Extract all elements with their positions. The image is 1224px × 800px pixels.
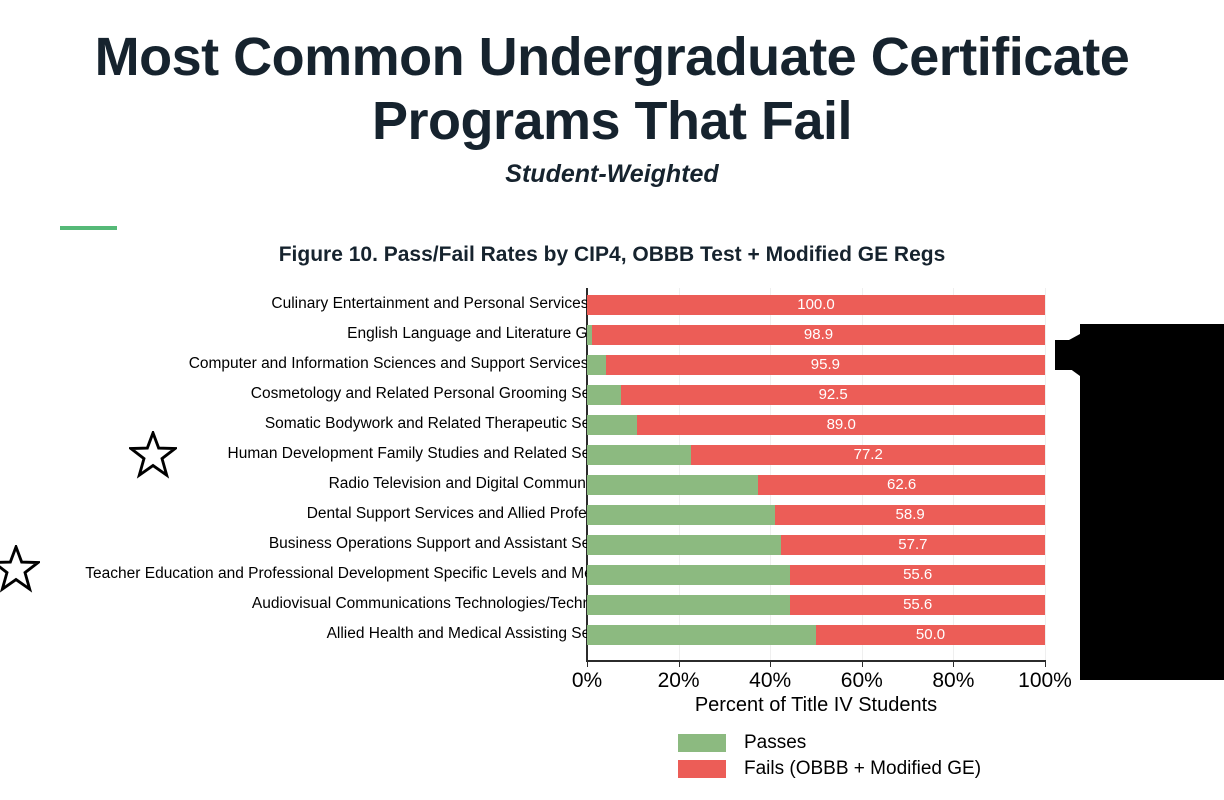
stacked-bar: 58.9 bbox=[587, 505, 1045, 525]
slide-subtitle: Student-Weighted bbox=[0, 160, 1224, 189]
category-label: Culinary Entertainment and Personal Serv… bbox=[0, 295, 635, 313]
bar-row: Teacher Education and Professional Devel… bbox=[0, 560, 1224, 590]
stacked-bar: 100.0 bbox=[587, 295, 1045, 315]
bar-value-label: 58.9 bbox=[896, 506, 925, 523]
bar-segment-passes bbox=[587, 535, 781, 555]
bar-row: Culinary Entertainment and Personal Serv… bbox=[0, 290, 1224, 320]
figure-title: Figure 10. Pass/Fail Rates by CIP4, OBBB… bbox=[0, 243, 1224, 267]
x-tick-label: 20% bbox=[658, 669, 700, 693]
legend-label: Fails (OBBB + Modified GE) bbox=[744, 758, 981, 780]
black-callout-shape bbox=[1055, 292, 1224, 680]
bar-value-label: 55.6 bbox=[903, 596, 932, 613]
bar-row: Allied Health and Medical Assisting Serv… bbox=[0, 620, 1224, 650]
legend-item[interactable]: Fails (OBBB + Modified GE) bbox=[678, 756, 981, 782]
bar-row: Cosmetology and Related Personal Groomin… bbox=[0, 380, 1224, 410]
bar-segment-passes bbox=[587, 625, 816, 645]
bar-value-label: 89.0 bbox=[827, 416, 856, 433]
stacked-bar: 55.6 bbox=[587, 565, 1045, 585]
bar-value-label: 62.6 bbox=[887, 476, 916, 493]
x-tick-label: 0% bbox=[572, 669, 602, 693]
bar-segment-passes bbox=[587, 445, 691, 465]
x-axis-title: Percent of Title IV Students bbox=[587, 694, 1045, 717]
legend-label: Passes bbox=[744, 732, 806, 754]
bar-row: Somatic Bodywork and Related Therapeutic… bbox=[0, 410, 1224, 440]
bar-value-label: 92.5 bbox=[819, 386, 848, 403]
stacked-bar: 77.2 bbox=[587, 445, 1045, 465]
bar-row: Business Operations Support and Assistan… bbox=[0, 530, 1224, 560]
stacked-bar: 98.9 bbox=[587, 325, 1045, 345]
category-label: Human Development Family Studies and Rel… bbox=[0, 445, 635, 463]
category-label: Dental Support Services and Allied Profe… bbox=[0, 505, 635, 523]
slide-title: Most Common Undergraduate Certificate Pr… bbox=[0, 26, 1224, 153]
bar-value-label: 77.2 bbox=[854, 446, 883, 463]
bar-segment-passes bbox=[587, 355, 606, 375]
bar-row: English Language and Literature General.… bbox=[0, 320, 1224, 350]
bar-value-label: 100.0 bbox=[797, 296, 835, 313]
x-tick bbox=[679, 660, 680, 667]
x-tick bbox=[953, 660, 954, 667]
bar-row: Human Development Family Studies and Rel… bbox=[0, 440, 1224, 470]
bar-value-label: 50.0 bbox=[916, 626, 945, 643]
bar-segment-passes bbox=[587, 565, 790, 585]
category-label: Audiovisual Communications Technologies/… bbox=[0, 595, 635, 613]
legend-swatch bbox=[678, 734, 726, 752]
category-label: Teacher Education and Professional Devel… bbox=[0, 565, 635, 583]
stacked-bar: 95.9 bbox=[587, 355, 1045, 375]
bar-row: Radio Television and Digital Communicati… bbox=[0, 470, 1224, 500]
stacked-bar: 92.5 bbox=[587, 385, 1045, 405]
bar-value-label: 95.9 bbox=[811, 356, 840, 373]
legend-item[interactable]: Passes bbox=[678, 730, 981, 756]
category-label: Allied Health and Medical Assisting Serv… bbox=[0, 625, 635, 643]
bar-segment-passes bbox=[587, 505, 775, 525]
x-tick bbox=[587, 660, 588, 667]
bar-row: Computer and Information Sciences and Su… bbox=[0, 350, 1224, 380]
bar-segment-passes bbox=[587, 595, 790, 615]
x-tick bbox=[862, 660, 863, 667]
stacked-bar: 57.7 bbox=[587, 535, 1045, 555]
category-label: Business Operations Support and Assistan… bbox=[0, 535, 635, 553]
bar-row: Audiovisual Communications Technologies/… bbox=[0, 590, 1224, 620]
category-label: Radio Television and Digital Communicati… bbox=[0, 475, 635, 493]
bar-value-label: 98.9 bbox=[804, 326, 833, 343]
x-axis-line bbox=[586, 660, 1046, 662]
category-label: Somatic Bodywork and Related Therapeutic… bbox=[0, 415, 635, 433]
x-tick bbox=[1045, 660, 1046, 667]
x-tick bbox=[770, 660, 771, 667]
x-tick-label: 80% bbox=[932, 669, 974, 693]
stacked-bar: 55.6 bbox=[587, 595, 1045, 615]
bar-segment-passes bbox=[587, 385, 621, 405]
x-tick-label: 40% bbox=[749, 669, 791, 693]
accent-rule bbox=[60, 226, 117, 230]
legend-swatch bbox=[678, 760, 726, 778]
category-label: Computer and Information Sciences and Su… bbox=[0, 355, 635, 373]
bar-value-label: 55.6 bbox=[903, 566, 932, 583]
pass-fail-bar-chart: 0%20%40%60%80%100% Culinary Entertainmen… bbox=[0, 288, 1224, 728]
stacked-bar: 50.0 bbox=[587, 625, 1045, 645]
bar-segment-passes bbox=[587, 415, 637, 435]
bar-value-label: 57.7 bbox=[898, 536, 927, 553]
chart-legend: PassesFails (OBBB + Modified GE) bbox=[678, 730, 981, 782]
category-label: Cosmetology and Related Personal Groomin… bbox=[0, 385, 635, 403]
stacked-bar: 89.0 bbox=[587, 415, 1045, 435]
x-tick-label: 60% bbox=[841, 669, 883, 693]
bar-segment-passes bbox=[587, 475, 758, 495]
category-label: English Language and Literature General. bbox=[0, 325, 635, 343]
bar-row: Dental Support Services and Allied Profe… bbox=[0, 500, 1224, 530]
stacked-bar: 62.6 bbox=[587, 475, 1045, 495]
